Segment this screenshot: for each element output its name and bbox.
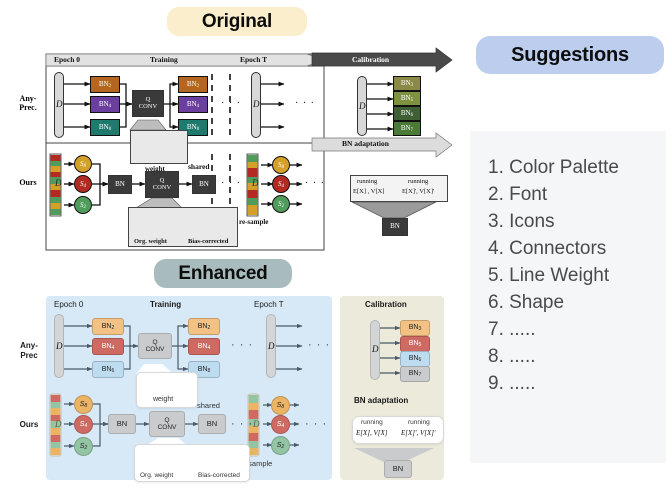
qconv-block-enhanced-anyprec: QCONV — [138, 333, 172, 359]
ellipsis-enhanced-ours-right: · · · — [305, 418, 327, 430]
calibration-box-original-0: BN3 — [393, 76, 421, 91]
bias-corrected-caption-enhanced: Bias-corrected — [198, 472, 240, 479]
dataset-symbol-ours-enhanced: D — [55, 419, 62, 429]
ellipsis-original-epocht: · · · — [295, 98, 315, 109]
shared-bn-block-original: BN — [192, 175, 216, 194]
suggestion-item: 7. ..... — [488, 317, 666, 344]
ellipsis-enhanced-anyprec: · · · — [231, 339, 253, 351]
dataset-symbol-ours-right-enhanced: D — [253, 419, 260, 429]
diagram-original: D D D D D Epoch 0 Training Epoch T Calib… — [12, 42, 456, 254]
suggestion-item: 4. Connectors — [488, 236, 666, 263]
dataset-symbol-ours-right-original: D — [252, 178, 259, 188]
running-right-line2-enhanced: E[X]', V[X]' — [401, 429, 436, 437]
bn-block-original-ours: BN — [108, 175, 132, 194]
sample-circle-original-left-1: S4 — [74, 175, 92, 193]
bn-funnel-block-enhanced: BN — [384, 460, 412, 478]
ellipsis-enhanced-epocht: · · · — [308, 339, 330, 351]
running-right-line1-enhanced: running — [408, 419, 430, 426]
suggestion-item: 1. Color Palette — [488, 155, 666, 182]
stage-label-epocht-original: Epoch T — [240, 55, 267, 64]
page-root: Original — [0, 0, 672, 490]
dataset-symbol-anyprec-original: D — [56, 99, 63, 109]
dataset-symbol-epocht-original: D — [253, 99, 260, 109]
sample-circle-original-right-2: S2 — [272, 195, 290, 213]
suggestion-item: 8. ..... — [488, 344, 666, 371]
bn-box-enhanced-left-0: BN2 — [92, 318, 124, 335]
calibration-box-original-3: BN7 — [393, 121, 421, 136]
weight-inset-original — [130, 130, 188, 164]
bn-box-enhanced-right-1: BN4 — [188, 338, 220, 355]
row-label-anyprec-original: Any-Prec. — [12, 94, 44, 112]
ellipsis-original-anyprec: · · · — [221, 98, 241, 109]
calibration-box-enhanced-3: BN7 — [400, 366, 430, 382]
dataset-symbol-calibration-enhanced: D — [372, 344, 379, 354]
ellipsis-enhanced-ours: · · · — [231, 418, 253, 430]
bn-box-enhanced-left-2: BN6 — [92, 361, 124, 378]
band-label-bnadaptation-original: BN adaptation — [342, 139, 389, 148]
bn-box-enhanced-left-1: BN4 — [92, 338, 124, 355]
sample-circle-enhanced-left-1: S4 — [74, 415, 93, 434]
sample-circle-original-left-2: S2 — [74, 196, 92, 214]
shared-label-enhanced: shared — [197, 401, 220, 410]
shared-label-original: shared — [188, 162, 210, 171]
calibration-box-enhanced-1: BN5 — [400, 336, 430, 352]
bn-block-enhanced-ours: BN — [108, 414, 136, 434]
sample-circle-enhanced-left-2: S2 — [74, 437, 93, 456]
sample-circle-enhanced-right-1: S4 — [271, 415, 290, 434]
band-label-bnadaptation-enhanced: BN adaptation — [354, 396, 408, 405]
running-right-line1-original: running — [408, 178, 428, 185]
calibration-box-original-1: BN5 — [393, 91, 421, 106]
row-label-ours-original: Ours — [12, 178, 44, 187]
running-left-line1-enhanced: running — [361, 419, 383, 426]
badge-original: Original — [167, 7, 307, 36]
band-label-calibration-original: Calibration — [352, 55, 389, 64]
dataset-symbol-anyprec-enhanced: D — [56, 341, 63, 351]
calibration-box-enhanced-0: BN3 — [400, 320, 430, 336]
band-label-calibration-enhanced: Calibration — [365, 300, 407, 309]
row-label-ours-enhanced: Ours — [12, 420, 46, 430]
ellipsis-original-ours: · · · — [221, 178, 241, 189]
org-weight-caption-original: Org. weight — [134, 238, 167, 245]
band-label-training-enhanced: Training — [150, 300, 181, 309]
stage-label-epocht-enhanced: Epoch T — [254, 300, 284, 309]
badge-suggestions: Suggestions — [476, 36, 664, 74]
running-left-line1-original: running — [357, 178, 377, 185]
dataset-symbol-epocht-enhanced: D — [268, 341, 275, 351]
bn-box-original-left-0: BN2 — [90, 76, 120, 93]
calibration-box-enhanced-2: BN6 — [400, 351, 430, 367]
dataset-symbol-calibration-original: D — [359, 101, 366, 111]
calibration-box-original-2: BN6 — [393, 106, 421, 121]
suggestion-item: 3. Icons — [488, 209, 666, 236]
dataset-symbol-ours-original: D — [55, 178, 62, 188]
running-left-line2-enhanced: E[X], V[X] — [356, 429, 388, 437]
bn-funnel-block-original: BN — [382, 218, 408, 236]
running-left-line2-original: E[X] , V[X] — [353, 188, 384, 195]
stage-label-epoch0-original: Epoch 0 — [54, 55, 80, 64]
qconv-block-original-ours: QCONV — [145, 171, 179, 198]
stage-label-epoch0-enhanced: Epoch 0 — [54, 300, 83, 309]
sample-circle-original-right-0: S8 — [272, 156, 290, 174]
bias-corrected-caption-original: Bias-corrected — [188, 238, 228, 245]
bn-box-original-right-0: BN2 — [178, 76, 208, 93]
sample-circle-enhanced-right-2: S2 — [271, 436, 290, 455]
row-label-anyprec-enhanced: Any-Prec — [12, 341, 46, 360]
weight-caption-enhanced: weight — [153, 396, 173, 403]
suggestions-panel: 1. Color Palette 2. Font 3. Icons 4. Con… — [470, 131, 666, 463]
org-weight-caption-enhanced: Org. weight — [140, 472, 173, 479]
bn-box-enhanced-right-0: BN2 — [188, 318, 220, 335]
suggestions-list: 1. Color Palette 2. Font 3. Icons 4. Con… — [470, 131, 666, 398]
sample-circle-original-right-1: S4 — [272, 175, 290, 193]
suggestion-item: 2. Font — [488, 182, 666, 209]
resample-label-original: re-sample — [239, 218, 268, 226]
bn-box-original-right-1: BN4 — [178, 96, 208, 113]
bn-box-original-left-1: BN4 — [90, 96, 120, 113]
sample-circle-enhanced-right-0: S8 — [271, 396, 290, 415]
band-label-training-original: Training — [150, 55, 178, 64]
sample-circle-enhanced-left-0: S8 — [74, 395, 93, 414]
shared-bn-block-enhanced: BN — [198, 414, 226, 434]
bn-box-original-left-2: BN8 — [90, 119, 120, 136]
sample-circle-original-left-0: S8 — [74, 155, 92, 173]
ellipsis-original-ours-right: · · · — [305, 178, 325, 189]
suggestion-item: 6. Shape — [488, 290, 666, 317]
suggestion-item: 9. ..... — [488, 371, 666, 398]
suggestion-item: 5. Line Weight — [488, 263, 666, 290]
qconv-block-enhanced-ours: QCONV — [149, 411, 185, 437]
qconv-block-original-anyprec: QCONV — [132, 90, 164, 117]
badge-enhanced: Enhanced — [154, 259, 292, 288]
diagram-enhanced: D D D D D Epoch 0 Training Epoch T Calib… — [12, 292, 456, 484]
running-right-line2-original: E[X]', V[X]' — [402, 188, 434, 195]
